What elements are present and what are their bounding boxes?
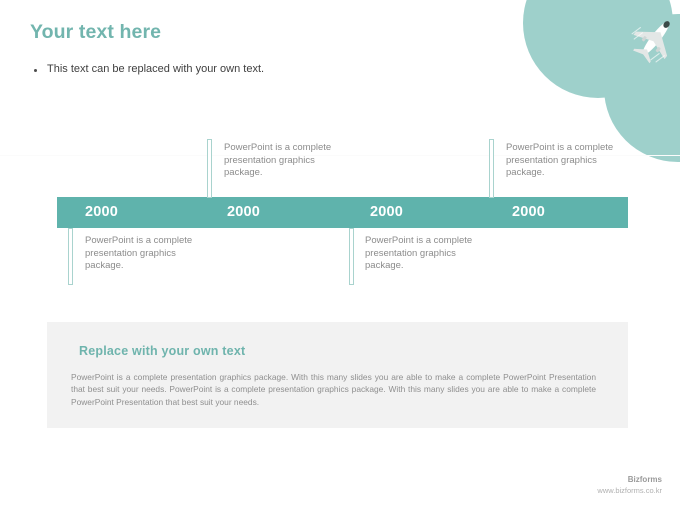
bullet-item-label: This text can be replaced with your own … — [47, 62, 264, 77]
timeline-milestone-text-2: PowerPoint is a complete presentation gr… — [224, 142, 349, 180]
timeline-tick-2 — [207, 139, 212, 198]
slide-canvas: Your text here This text can be replaced… — [0, 0, 680, 510]
timeline-bar: 2000 2000 2000 2000 — [57, 197, 628, 228]
timeline-tick-1 — [68, 228, 73, 285]
timeline-tick-4 — [489, 139, 494, 198]
timeline-milestone-text-3: PowerPoint is a complete presentation gr… — [365, 235, 490, 273]
timeline-year-4: 2000 — [512, 204, 545, 220]
footer-url: www.bizforms.co.kr — [597, 485, 662, 496]
description-panel-heading: Replace with your own text — [79, 344, 245, 358]
timeline-milestone-text-4: PowerPoint is a complete presentation gr… — [506, 142, 631, 180]
timeline-year-2: 2000 — [227, 204, 260, 220]
footer: Bizforms www.bizforms.co.kr — [597, 474, 662, 496]
airplane-icon — [630, 12, 680, 64]
timeline-milestone-text-1: PowerPoint is a complete presentation gr… — [85, 235, 210, 273]
footer-brand: Bizforms — [597, 474, 662, 485]
timeline-year-3: 2000 — [370, 204, 403, 220]
timeline-year-1: 2000 — [85, 204, 118, 220]
bullet-item: This text can be replaced with your own … — [34, 62, 264, 77]
timeline-tick-3 — [349, 228, 354, 285]
page-title: Your text here — [30, 21, 161, 44]
bullet-dot-icon — [34, 69, 37, 72]
description-panel-body: PowerPoint is a complete presentation gr… — [71, 371, 596, 408]
